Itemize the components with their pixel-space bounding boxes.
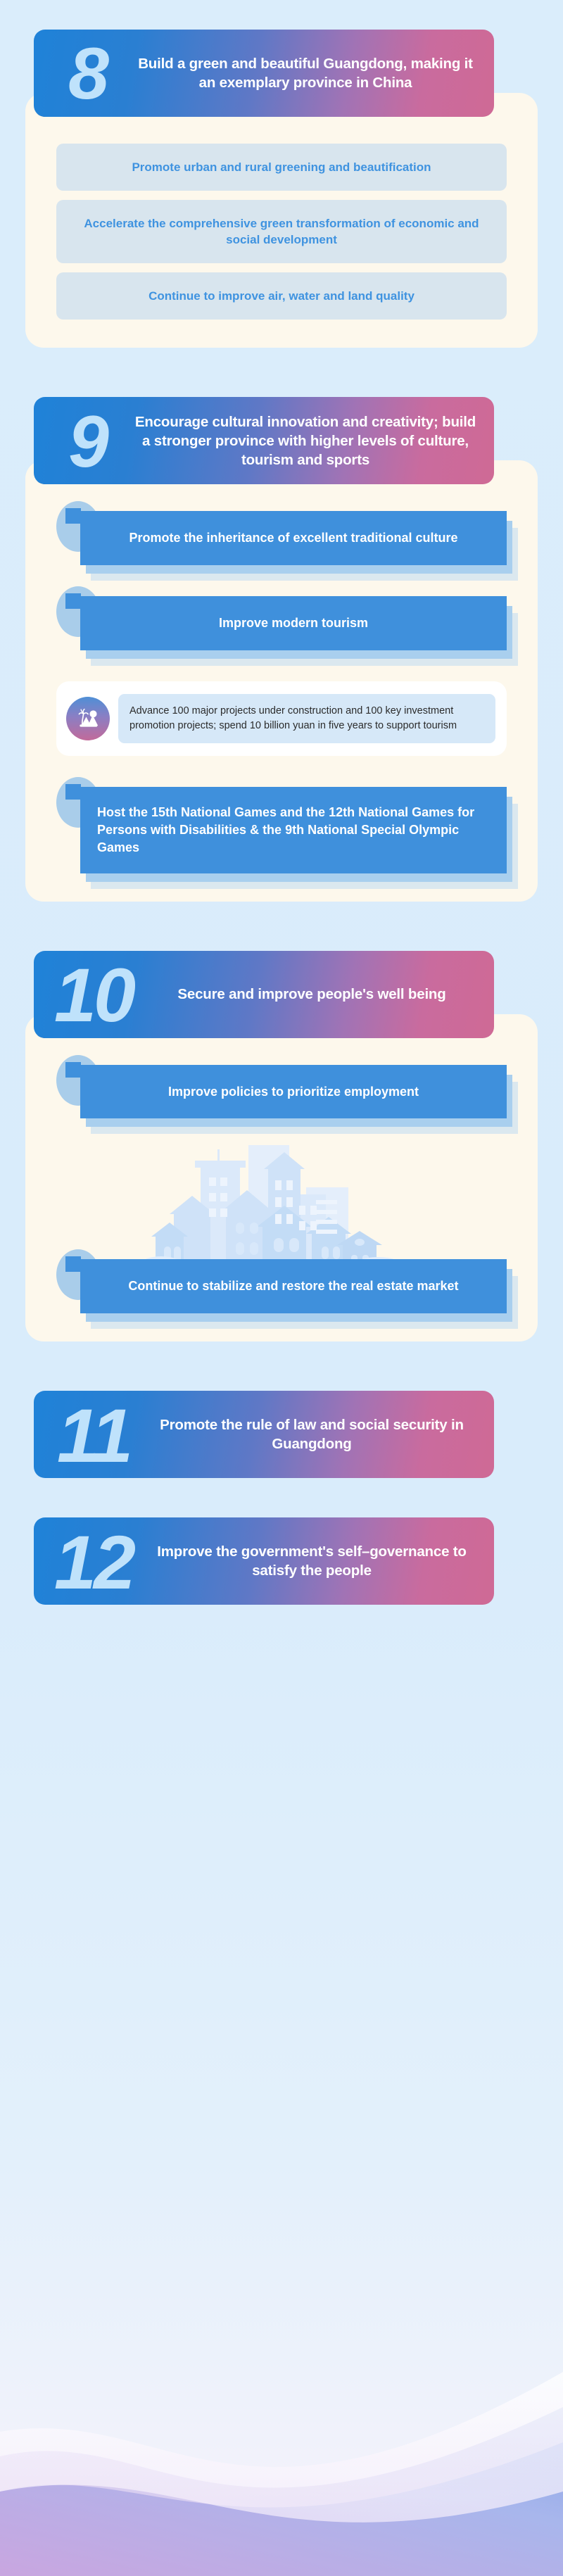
ribbon-tail-notch	[34, 1035, 52, 1038]
section-12-header: 12 Improve the government's self–governa…	[25, 1517, 538, 1605]
card-label: Host the 15th National Games and the 12t…	[80, 787, 507, 873]
section-12: 12 Improve the government's self–governa…	[25, 1517, 538, 1605]
section-title: Encourage cultural innovation and creati…	[134, 412, 481, 469]
square-decoration	[65, 784, 81, 800]
section-8-header: 8 Build a green and beautiful Guangdong,…	[25, 30, 538, 117]
card-label: Advance 100 major projects under constru…	[118, 694, 495, 743]
section-9-panel: Promote the inheritance of excellent tra…	[25, 460, 538, 901]
city-skyline-illustration	[56, 1144, 507, 1277]
section-8-panel: Promote urban and rural greening and bea…	[25, 93, 538, 348]
section-number: 8	[41, 46, 134, 103]
section-number: 12	[41, 1533, 146, 1592]
list-item[interactable]: Promote the inheritance of excellent tra…	[56, 511, 507, 565]
list-item[interactable]: Improve modern tourism	[56, 596, 507, 650]
square-decoration	[65, 1062, 81, 1078]
section-8: 8 Build a green and beautiful Guangdong,…	[25, 30, 538, 348]
card-label: Continue to stabilize and restore the re…	[80, 1259, 507, 1313]
section-9-header: 9 Encourage cultural innovation and crea…	[25, 397, 538, 484]
section-number: 9	[41, 414, 134, 471]
ribbon-tail-notch	[34, 114, 52, 117]
list-item[interactable]: Accelerate the comprehensive green trans…	[56, 200, 507, 263]
section-header-ribbon: 11 Promote the rule of law and social se…	[34, 1391, 494, 1478]
section-10: 10 Secure and improve people's well bein…	[25, 951, 538, 1342]
card-label: Promote the inheritance of excellent tra…	[80, 511, 507, 565]
footer-decorative-wave	[0, 2280, 563, 2576]
list-item[interactable]: Improve policies to prioritize employmen…	[56, 1065, 507, 1119]
section-9: 9 Encourage cultural innovation and crea…	[25, 397, 538, 901]
list-item[interactable]: Promote urban and rural greening and bea…	[56, 144, 507, 191]
tourism-landscape-icon	[66, 697, 110, 740]
section-number: 10	[41, 966, 146, 1025]
ribbon-tail-notch	[34, 481, 52, 484]
section-number: 11	[41, 1406, 146, 1465]
section-title: Secure and improve people's well being	[146, 985, 481, 1004]
section-11: 11 Promote the rule of law and social se…	[25, 1391, 538, 1478]
section-header-ribbon: 10 Secure and improve people's well bein…	[34, 951, 494, 1038]
list-item[interactable]: Continue to improve air, water and land …	[56, 272, 507, 320]
section-10-header: 10 Secure and improve people's well bein…	[25, 951, 538, 1038]
card-label: Improve modern tourism	[80, 596, 507, 650]
list-item[interactable]: Continue to stabilize and restore the re…	[56, 1259, 507, 1313]
list-item[interactable]: Host the 15th National Games and the 12t…	[56, 787, 507, 873]
square-decoration	[65, 1256, 81, 1272]
section-11-header: 11 Promote the rule of law and social se…	[25, 1391, 538, 1478]
section-title: Improve the government's self–governance…	[146, 1542, 481, 1580]
square-decoration	[65, 593, 81, 609]
square-decoration	[65, 508, 81, 524]
section-header-ribbon: 8 Build a green and beautiful Guangdong,…	[34, 30, 494, 117]
infographic-stack: 8 Build a green and beautiful Guangdong,…	[0, 0, 563, 1644]
section-header-ribbon: 9 Encourage cultural innovation and crea…	[34, 397, 494, 484]
section-10-panel: Improve policies to prioritize employmen…	[25, 1014, 538, 1342]
card-label: Improve policies to prioritize employmen…	[80, 1065, 507, 1119]
icon-detail-card[interactable]: Advance 100 major projects under constru…	[56, 681, 507, 756]
section-header-ribbon: 12 Improve the government's self–governa…	[34, 1517, 494, 1605]
section-title: Build a green and beautiful Guangdong, m…	[134, 54, 481, 92]
section-title: Promote the rule of law and social secur…	[146, 1415, 481, 1453]
